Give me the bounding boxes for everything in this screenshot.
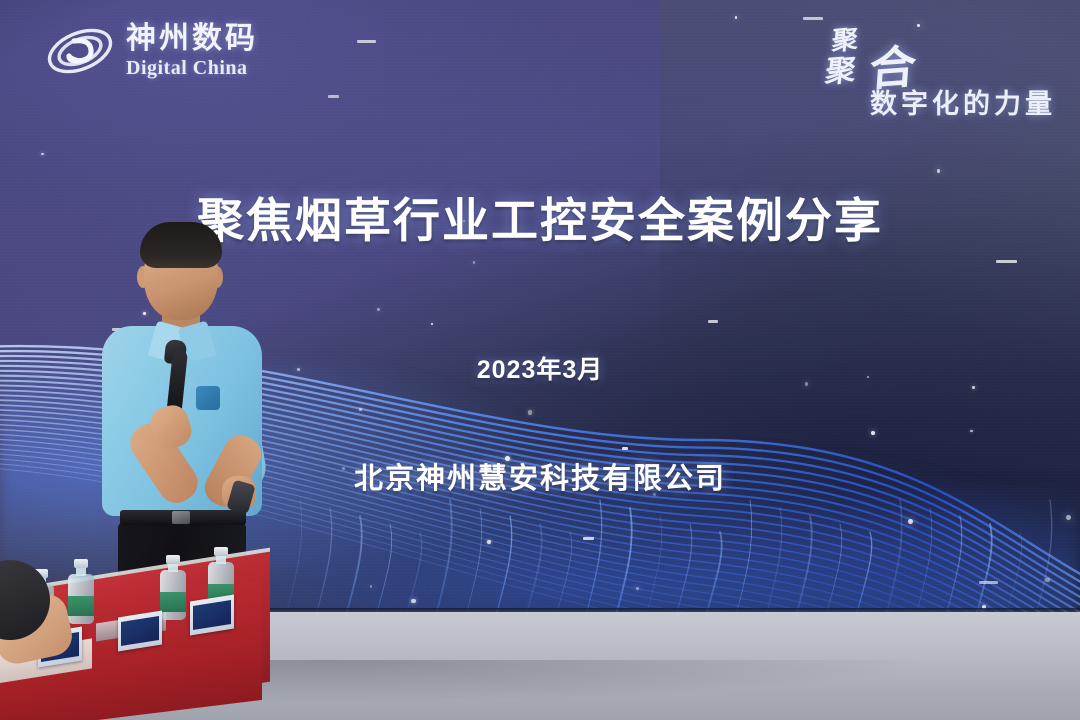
event-logo-calligraphy: 聚 聚 合: [824, 18, 954, 84]
particle-dot: [370, 585, 372, 587]
brand-logo: 神州数码 Digital China: [44, 22, 258, 80]
bottle-cap: [166, 555, 180, 564]
particle-dot: [622, 447, 628, 450]
particle-dot: [871, 431, 875, 435]
presentation-photo: 神州数码 Digital China 聚 聚 合 数字化的力量 聚焦烟草行业工控…: [0, 0, 1080, 720]
particle-dot: [487, 540, 491, 544]
particle-dot: [979, 581, 998, 584]
water-bottle: [68, 560, 94, 624]
particle-dot: [996, 260, 1017, 263]
particle-dot: [636, 587, 639, 590]
speaker-shirt-logo: [196, 386, 220, 410]
event-logo-subtitle: 数字化的力量: [870, 82, 1056, 121]
name-card-plate: [121, 616, 159, 646]
brand-name-cn: 神州数码: [126, 24, 258, 54]
particle-dot: [41, 153, 43, 155]
bottle-label: [160, 592, 186, 612]
bottle-cap: [74, 559, 88, 568]
particle-dot: [970, 430, 972, 432]
particle-dot: [735, 16, 737, 18]
name-card: [118, 611, 162, 652]
particle-dot: [1066, 515, 1071, 520]
speaker-hair: [140, 222, 222, 268]
particle-dot: [377, 308, 380, 311]
particle-dot: [473, 261, 476, 264]
swirl-galaxy-icon: [44, 22, 116, 80]
particle-dot: [357, 40, 376, 43]
name-card: [190, 595, 234, 636]
bottle-label: [68, 596, 94, 616]
particle-dot: [528, 410, 533, 415]
particle-dot: [708, 320, 718, 323]
speaker-belt-buckle: [172, 511, 190, 524]
particle-dot: [972, 386, 975, 389]
water-bottle: [160, 556, 186, 620]
particle-dot: [431, 323, 433, 325]
particle-dot: [328, 95, 338, 98]
name-card-plate: [193, 600, 231, 630]
particle-dot: [583, 537, 594, 540]
bottle-cap: [214, 547, 228, 556]
particle-dot: [411, 599, 416, 604]
brand-name-en: Digital China: [126, 58, 258, 78]
particle-dot: [359, 408, 362, 411]
particle-dot: [937, 169, 941, 173]
particle-dot: [908, 519, 913, 524]
event-logo: 聚 聚 合 数字化的力量: [806, 18, 1056, 118]
calligraphy-char-2: 聚: [823, 45, 859, 91]
particle-dot: [1045, 578, 1050, 583]
